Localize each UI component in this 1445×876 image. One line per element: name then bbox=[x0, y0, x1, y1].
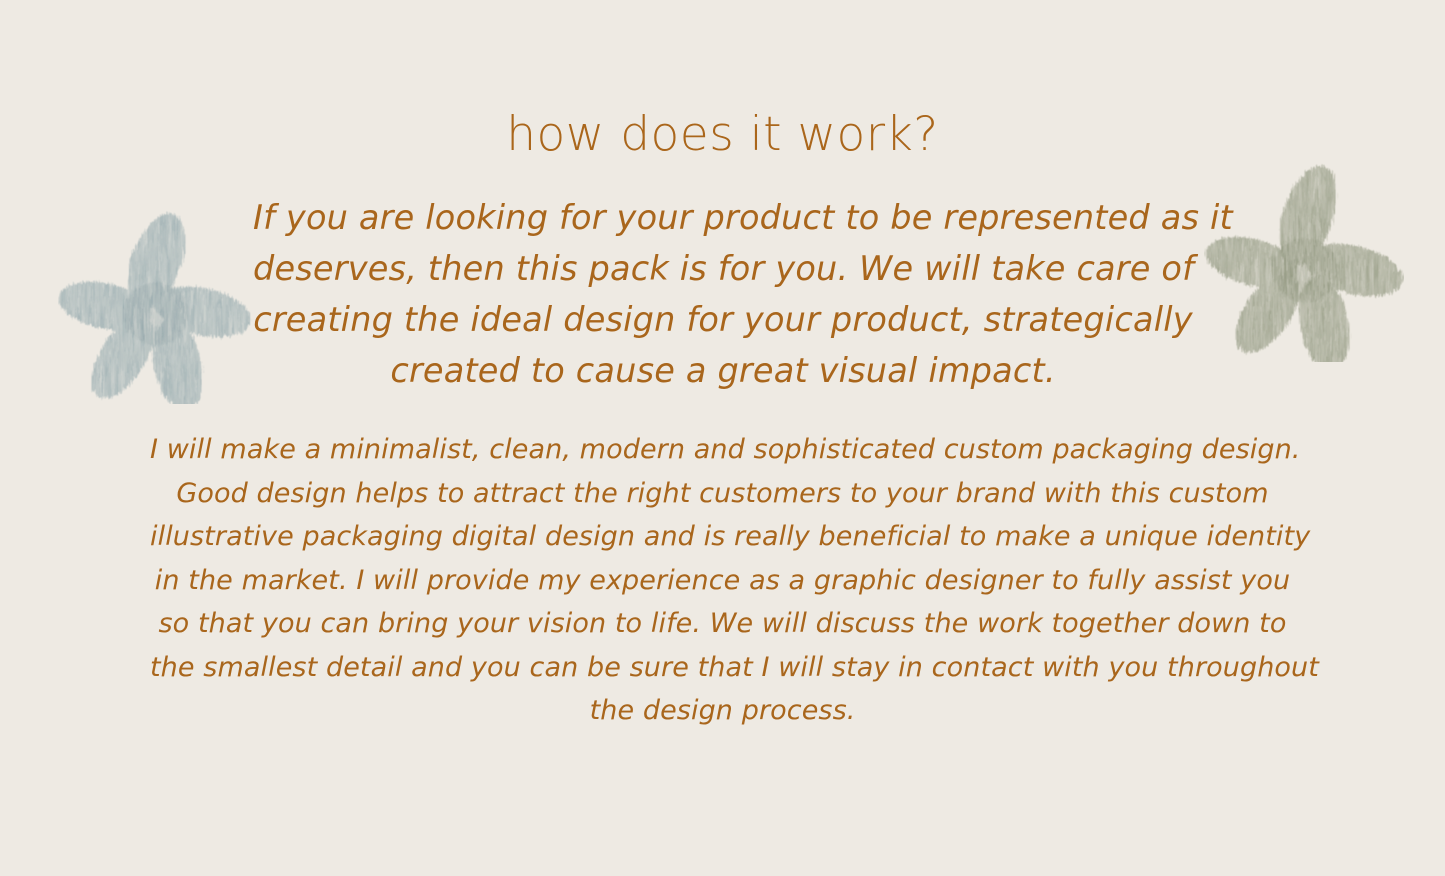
page-title: how does it work? bbox=[0, 109, 1445, 161]
intro-line: created to cause a great visual impact. bbox=[253, 345, 1193, 396]
description-line: Good design helps to attract the right c… bbox=[150, 472, 1295, 516]
description-paragraph: I will make a minimalist, clean, modern … bbox=[150, 428, 1295, 733]
intro-line: deserves, then this pack is for you. We … bbox=[253, 243, 1193, 294]
flower-left-icon bbox=[58, 208, 254, 404]
intro-paragraph: If you are looking for your product to b… bbox=[253, 192, 1193, 396]
intro-line: If you are looking for your product to b… bbox=[253, 192, 1193, 243]
description-line: so that you can bring your vision to lif… bbox=[150, 602, 1295, 646]
description-line: the design process. bbox=[150, 689, 1295, 733]
description-line: illustrative packaging digital design an… bbox=[150, 515, 1295, 559]
flower-right-icon bbox=[1204, 162, 1404, 362]
intro-line: creating the ideal design for your produ… bbox=[253, 294, 1193, 345]
poster-canvas: how does it work? If you are looking for… bbox=[0, 0, 1445, 876]
description-line: I will make a minimalist, clean, modern … bbox=[150, 428, 1295, 472]
description-line: in the market. I will provide my experie… bbox=[150, 559, 1295, 603]
description-line: the smallest detail and you can be sure … bbox=[150, 646, 1295, 690]
